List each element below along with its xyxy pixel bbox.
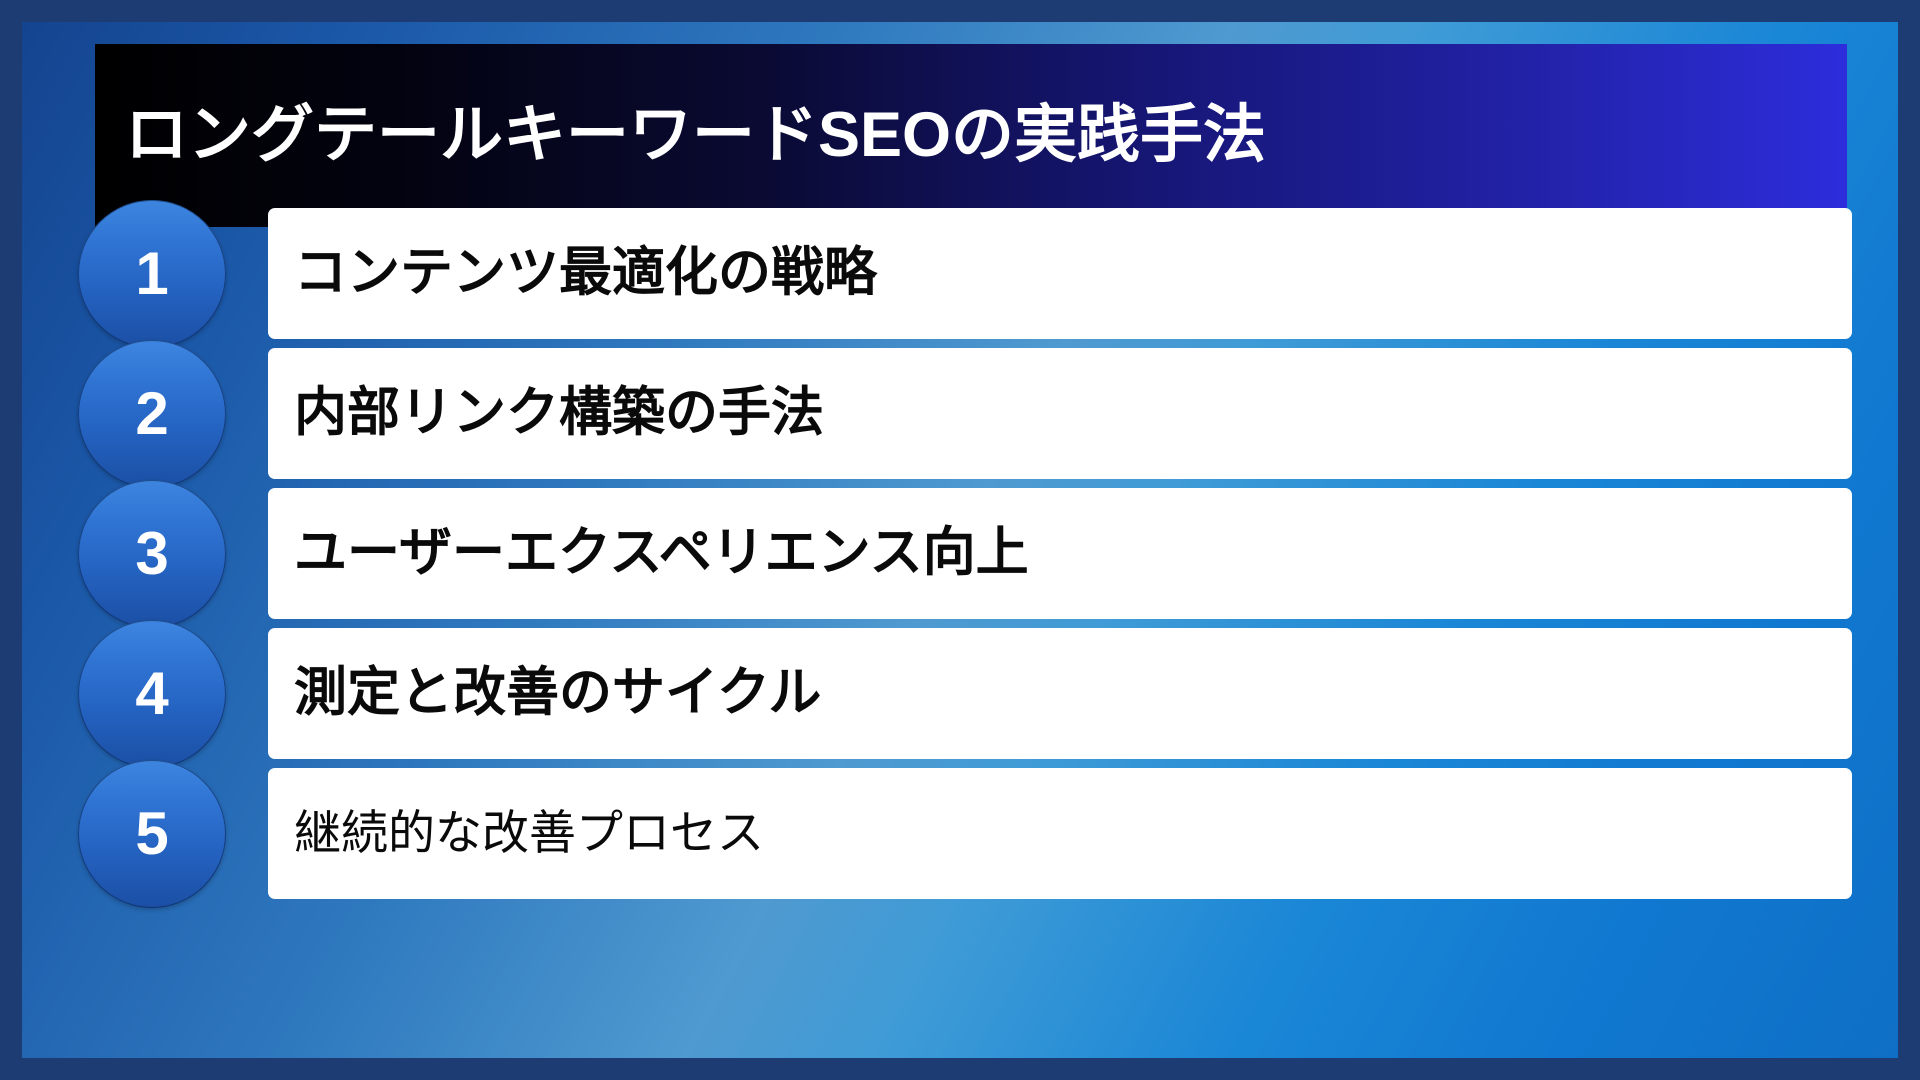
list-item[interactable]: 5 継続的な改善プロセス bbox=[22, 768, 1898, 899]
step-card-3[interactable]: ユーザーエクスペリエンス向上 bbox=[268, 488, 1852, 619]
step-number: 1 bbox=[135, 244, 168, 304]
step-card-2[interactable]: 内部リンク構築の手法 bbox=[268, 348, 1852, 479]
list-item[interactable]: 4 測定と改善のサイクル bbox=[22, 628, 1898, 759]
slide-root: ロングテールキーワードSEOの実践手法 1 コンテンツ最適化の戦略 2 内部リン… bbox=[0, 0, 1920, 1080]
step-number: 5 bbox=[135, 804, 168, 864]
list-item[interactable]: 2 内部リンク構築の手法 bbox=[22, 348, 1898, 479]
step-label: 継続的な改善プロセス bbox=[268, 806, 764, 860]
step-card-4[interactable]: 測定と改善のサイクル bbox=[268, 628, 1852, 759]
step-badge-4: 4 bbox=[78, 620, 226, 768]
step-badge-3: 3 bbox=[78, 480, 226, 628]
step-label: 内部リンク構築の手法 bbox=[268, 383, 824, 444]
list-item[interactable]: 3 ユーザーエクスペリエンス向上 bbox=[22, 488, 1898, 619]
step-label: コンテンツ最適化の戦略 bbox=[268, 243, 877, 304]
list-item[interactable]: 1 コンテンツ最適化の戦略 bbox=[22, 208, 1898, 339]
page-title: ロングテールキーワードSEOの実践手法 bbox=[95, 101, 1266, 170]
slide-panel: ロングテールキーワードSEOの実践手法 1 コンテンツ最適化の戦略 2 内部リン… bbox=[22, 22, 1898, 1058]
step-badge-1: 1 bbox=[78, 200, 226, 348]
step-label: 測定と改善のサイクル bbox=[268, 663, 821, 724]
step-number: 2 bbox=[135, 384, 168, 444]
title-banner: ロングテールキーワードSEOの実践手法 bbox=[95, 44, 1847, 227]
step-card-1[interactable]: コンテンツ最適化の戦略 bbox=[268, 208, 1852, 339]
numbered-list: 1 コンテンツ最適化の戦略 2 内部リンク構築の手法 3 ユ bbox=[22, 208, 1898, 899]
step-label: ユーザーエクスペリエンス向上 bbox=[268, 523, 1029, 584]
step-number: 3 bbox=[135, 524, 168, 584]
step-badge-5: 5 bbox=[78, 760, 226, 908]
step-badge-2: 2 bbox=[78, 340, 226, 488]
step-card-5[interactable]: 継続的な改善プロセス bbox=[268, 768, 1852, 899]
step-number: 4 bbox=[135, 664, 168, 724]
